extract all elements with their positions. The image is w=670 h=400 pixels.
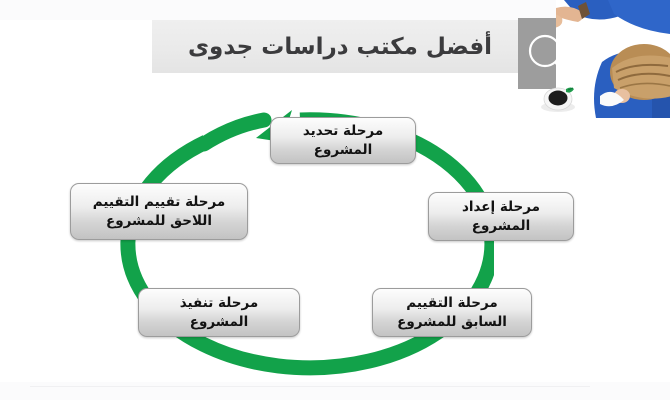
slide-canvas: أفضل مكتب دراسات جدوى: [0, 0, 670, 400]
coffee-cup-icon: [538, 85, 578, 113]
phase-node-pre-evaluation[interactable]: مرحلة التقييم السابق للمشروع: [372, 288, 532, 337]
phase-node-execute[interactable]: مرحلة تنفيذ المشروع: [138, 288, 300, 337]
phase-node-execute-label: مرحلة تنفيذ المشروع: [174, 294, 265, 331]
phase-node-post-evaluation-label: مرحلة تقييم التقييم اللاحق للمشروع: [87, 193, 232, 230]
phase-node-post-evaluation[interactable]: مرحلة تقييم التقييم اللاحق للمشروع: [70, 183, 248, 240]
background-band-bottom: [0, 382, 670, 400]
phase-node-prepare-label: مرحلة إعداد المشروع: [456, 198, 546, 235]
page-title: أفضل مكتب دراسات جدوى: [168, 27, 512, 67]
phase-node-pre-evaluation-label: مرحلة التقييم السابق للمشروع: [391, 294, 513, 331]
phase-node-prepare[interactable]: مرحلة إعداد المشروع: [428, 192, 574, 241]
footer-hairline: [30, 386, 590, 387]
phase-node-identify-label: مرحلة تحديد المشروع: [297, 122, 389, 159]
phase-node-identify[interactable]: مرحلة تحديد المشروع: [270, 117, 416, 164]
